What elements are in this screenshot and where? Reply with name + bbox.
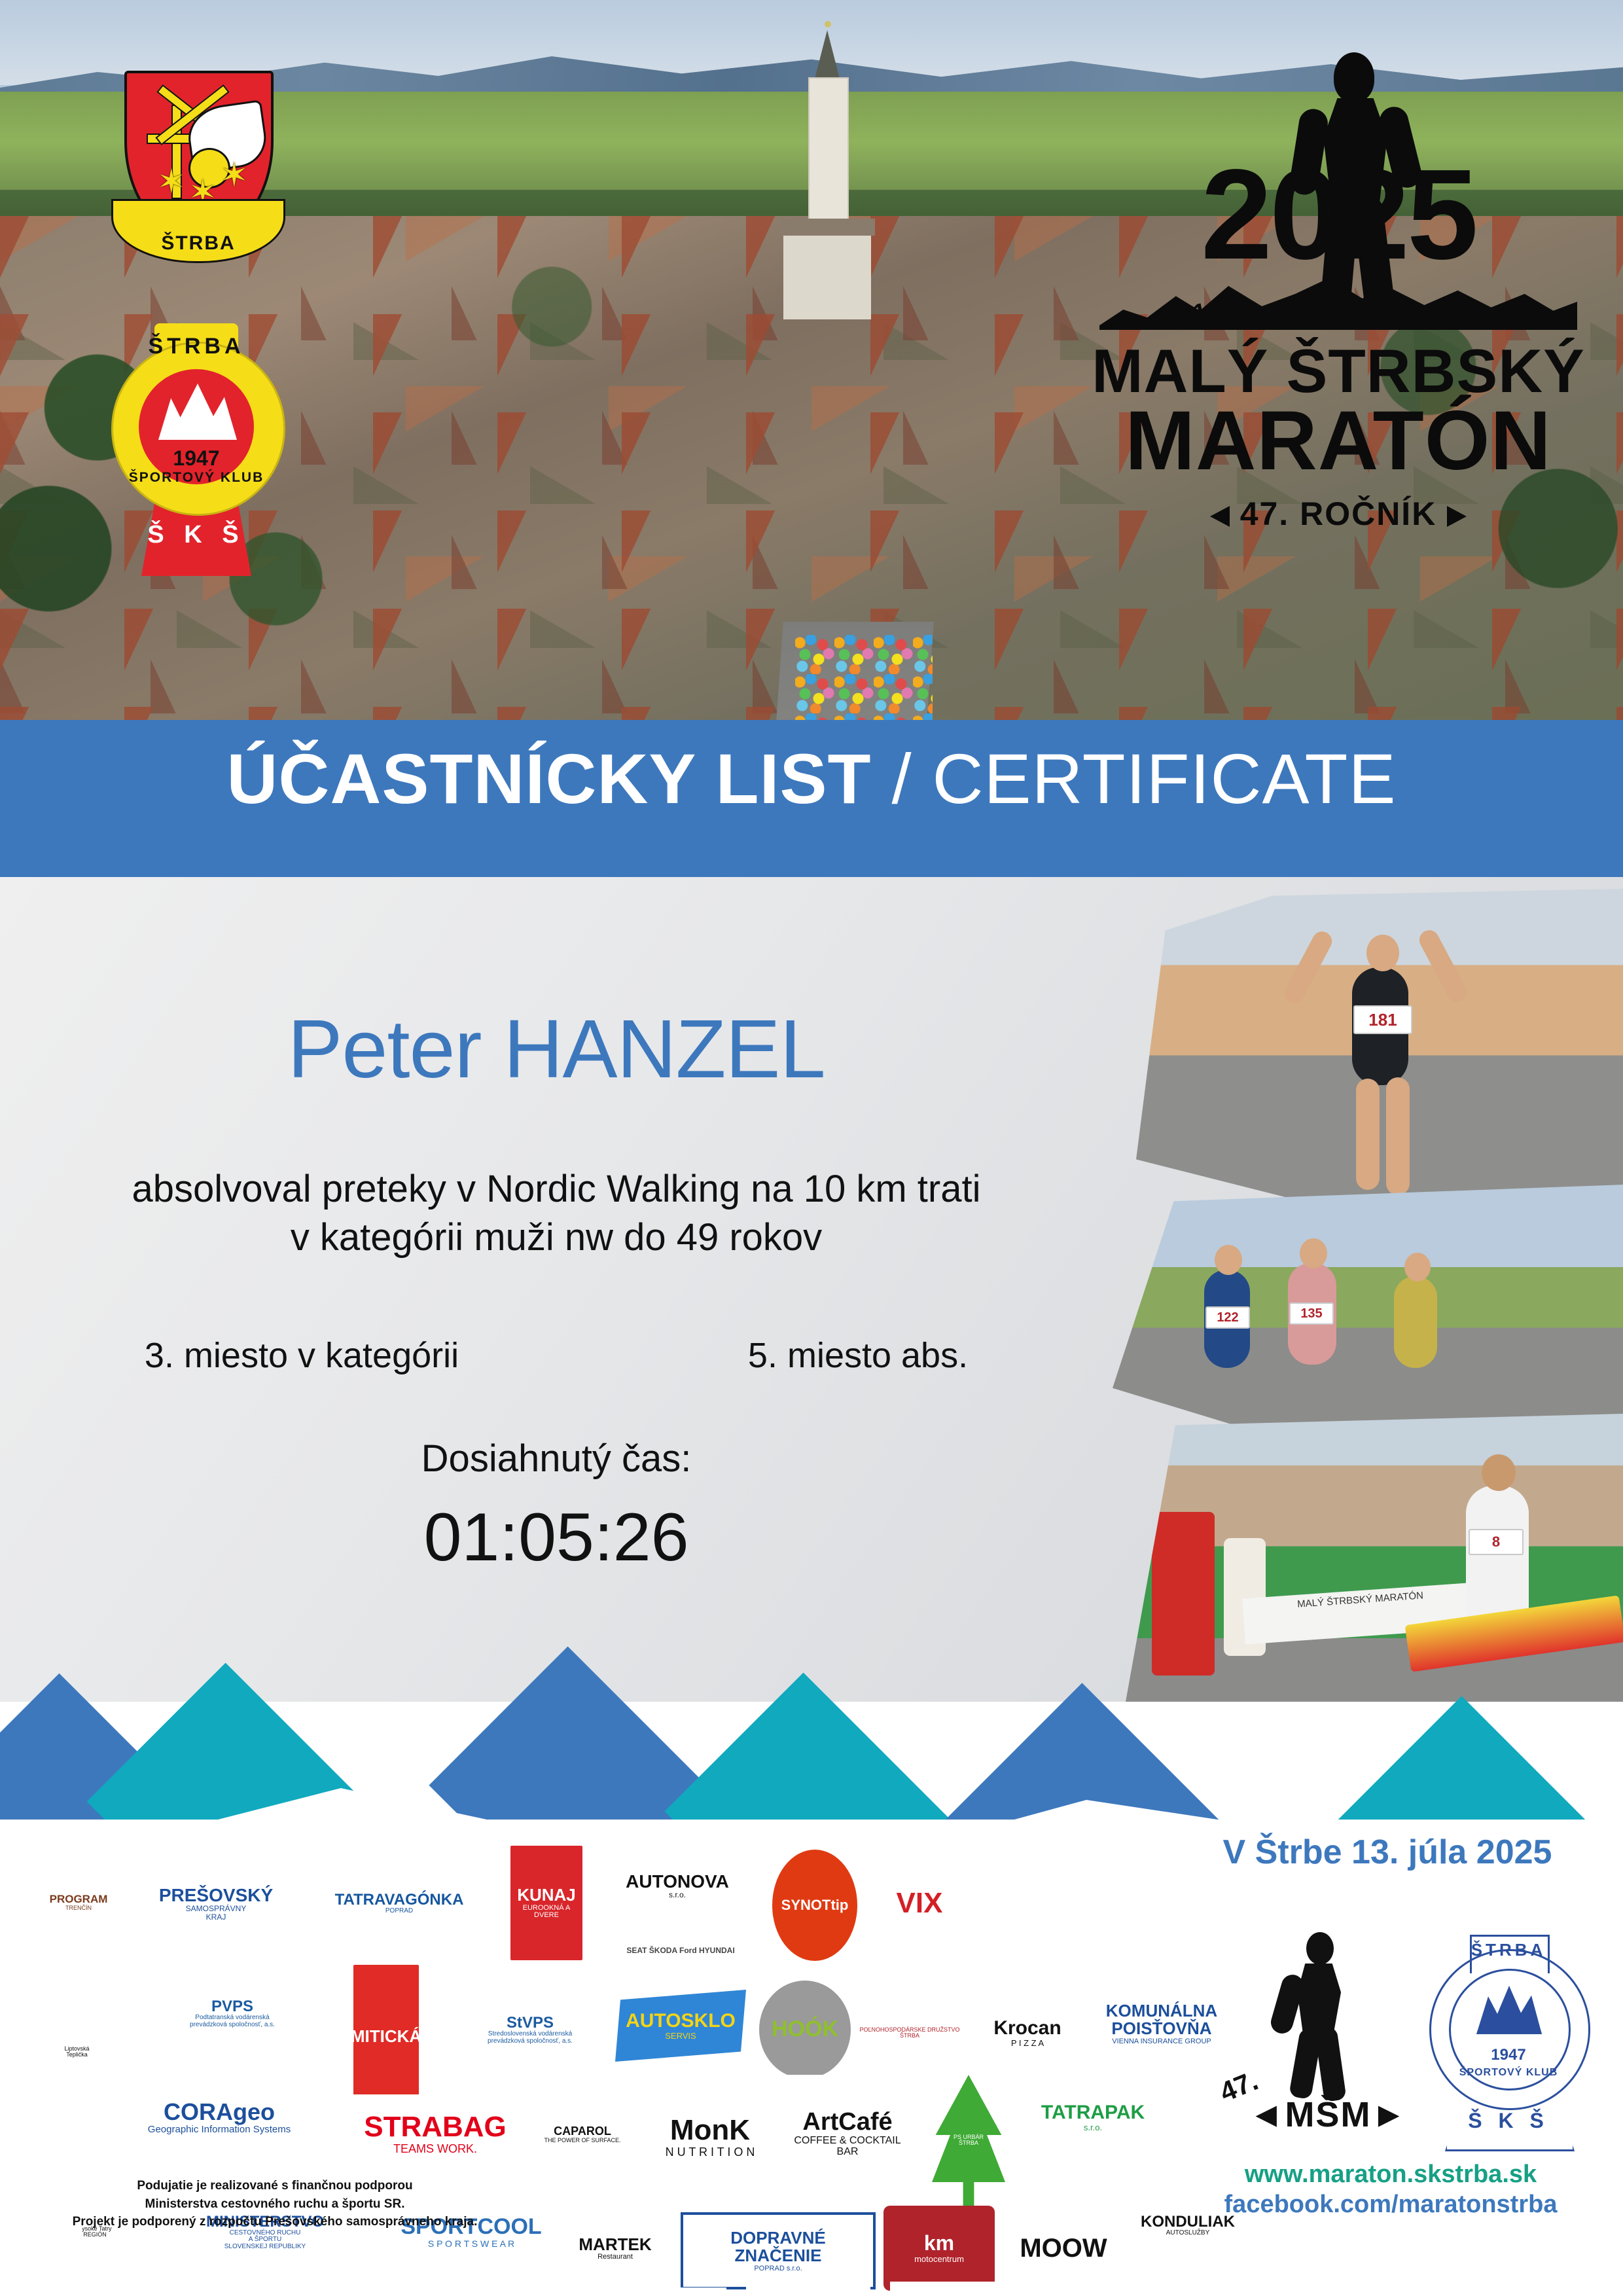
sponsor-name-label: SEAT ŠKODA Ford HYUNDAI [626, 1946, 734, 1955]
sponsor-logo: MARTEKRestaurant [556, 2199, 674, 2296]
placement-row: 3. miesto v kategórii 5. miesto abs. [0, 1335, 1113, 1376]
msm-abbr-label: ◄MŠM► [1249, 2094, 1408, 2135]
sponsor-sub-label: VIENNA INSURANCE GROUP [1106, 2038, 1217, 2046]
sponsor-logo: kmmotocentrum [883, 2206, 995, 2291]
sponsor-name-label: STRABAG [364, 2112, 507, 2142]
achievement-description: absolvoval preteky v Nordic Walking na 1… [0, 1165, 1113, 1262]
msm-runner-leg-b [1314, 2026, 1346, 2102]
description-line-1: absolvoval preteky v Nordic Walking na 1… [0, 1165, 1113, 1213]
sponsor-logo: KOMUNÁLNA POISŤOVŇAVIENNA INSURANCE GROU… [1086, 1978, 1237, 2070]
banner-title-sk: ÚČASTNÍCKY LIST [226, 739, 871, 818]
runner-leg-right [1386, 1077, 1410, 1195]
crest-star-1: ✶ [157, 169, 186, 195]
sponsor-text-wrap: PS URBÁR ŠTRBA [954, 2134, 984, 2147]
sponsor-logo: PotravinyŠERFEL [890, 2282, 1034, 2296]
triangle-right-icon [1447, 506, 1467, 527]
sponsor-sub-label: SERVIS [626, 2032, 736, 2041]
bib-number: 135 [1289, 1302, 1334, 1325]
triangle-left-icon [1210, 506, 1230, 527]
sponsor-sub-label: COFFEE & COCKTAIL BAR [785, 2136, 910, 2158]
church-nave [783, 228, 871, 319]
description-line-2: v kategórii muži nw do 49 rokov [0, 1213, 1113, 1262]
website-link[interactable]: www.maraton.skstrba.sk [1165, 2160, 1616, 2190]
club-top-label: ŠTRBA [98, 334, 294, 359]
sponsor-name-label: AUTOSKLO [626, 2011, 736, 2032]
sponsor-logo: pretekaj.sk [406, 2284, 569, 2296]
sponsor-text-wrap: KrocanP I Z Z A [993, 2018, 1061, 2047]
bib-number: 122 [1205, 1306, 1250, 1329]
winner-head [1482, 1454, 1516, 1491]
sks-club-logo: ŠTRBA 1947 ŠPORTOVÝ KLUB Š K Š [98, 327, 294, 589]
sponsor-text-wrap: STRABAGTEAMS WORK. [364, 2112, 507, 2155]
sponsor-sub-label: Liptovská Teplička [64, 2046, 89, 2058]
sponsor-text-wrap: TATRAVAGÓNKAPOPRAD [335, 1892, 464, 1915]
sponsor-logo: MonKN U T R I T I O N [648, 2088, 772, 2186]
sponsor-name-label: MOOW [1020, 2234, 1107, 2262]
sponsor-text-wrap: MonKN U T R I T I O N [666, 2115, 755, 2158]
sponsor-logo: SYNOTtip [772, 1850, 857, 1961]
sponsor-name-label: AUTONOVA [626, 1872, 729, 1891]
sponsor-sub-label: motocentrum [914, 2255, 964, 2264]
sponsor-logo: CORAgeoGeographic Information Systems [118, 2075, 321, 2160]
recipient-first-name: Peter [287, 1003, 503, 1095]
sponsor-logo: AUTOSKLOSERVIS [615, 1990, 746, 2062]
sponsor-text-wrap: CORAgeoGeographic Information Systems [148, 2100, 291, 2135]
stamp-abbr-label: Š K Š [1414, 2109, 1603, 2133]
runner-head [1366, 935, 1399, 971]
sponsor-name-label: TATRAVAGÓNKA [335, 1892, 464, 1908]
time-label: Dosiahnutý čas: [0, 1437, 1113, 1480]
issue-date: V Štrbe 13. júla 2025 [1171, 1833, 1603, 1872]
sponsor-sub-label: SAMOSPRÁVNY KRAJ [159, 1905, 273, 1921]
sponsor-logo: HOÓK [759, 1981, 851, 2079]
certificate-banner: ÚČASTNÍCKY LIST / CERTIFICATE [0, 720, 1623, 877]
runner-3-body [1394, 1276, 1437, 1368]
marathon-line1: MALÝ ŠTRBSKÝ [1080, 340, 1597, 402]
sponsor-name-label: PREŠOVSKÝ [159, 1886, 273, 1905]
sponsor-logo: STRABAGTEAMS WORK. [353, 2094, 517, 2173]
sponsor-text-wrap: kmmotocentrum [914, 2233, 964, 2263]
sponsor-logo: SEAT ŠKODA Ford HYUNDAI [609, 1931, 753, 1970]
sponsor-sub-label: s.r.o. [626, 1891, 729, 1899]
sponsor-sub-label: TRENČÍN [50, 1905, 108, 1911]
spire-ball [825, 21, 831, 27]
sponsor-logo: MITICKÁ [353, 1965, 419, 2109]
sponsor-logo: DOPRAVNÉ ZNAČENIEPOPRAD s.r.o. [681, 2212, 876, 2289]
disclaimer-line-3: Projekt je podporený z rozpočtu Prešovsk… [46, 2213, 504, 2231]
sponsor-name-label: DOPRAVNÉ ZNAČENIE [730, 2229, 825, 2265]
sponsor-name-label: KOMUNÁLNA POISŤOVŇA [1106, 2002, 1217, 2038]
absolute-placement: 5. miesto abs. [748, 1335, 968, 1376]
crest-name-label: ŠTRBA [113, 232, 283, 255]
sponsor-text-wrap: SEAT ŠKODA Ford HYUNDAI [626, 1946, 734, 1955]
sponsor-sub-label: POPRAD s.r.o. [730, 2265, 825, 2273]
sponsor-name-label: PROGRAM [50, 1893, 108, 1905]
disclaimer-line-1: Podujatie je realizované s finančnou pod… [46, 2177, 504, 2195]
funding-disclaimer: Podujatie je realizované s finančnou pod… [46, 2177, 504, 2231]
sponsor-sub-label: P I Z Z A [993, 2039, 1061, 2048]
sponsor-text-wrap: DOPRAVNÉ ZNAČENIEPOPRAD s.r.o. [730, 2229, 825, 2272]
sponsor-sub-label: POPRAD [335, 1908, 464, 1915]
runner-arm-raised-right [1416, 927, 1471, 1005]
recipient-name: Peter HANZEL [0, 1001, 1113, 1096]
sponsor-sub-label: Restaurant [579, 2253, 651, 2261]
banner-title-separator: / [871, 739, 932, 818]
recipient-last-name: HANZEL [504, 1003, 825, 1095]
sponsor-logo: TATRAVAGÓNKAPOPRAD [314, 1864, 484, 1943]
club-ring-label: ŠPORTOVÝ KLUB [98, 470, 294, 486]
stamp-top-label: ŠTRBA [1414, 1940, 1603, 1960]
sponsor-name-label: ArtCafé [785, 2109, 910, 2136]
sponsor-sub-label: s.r.o. [1041, 2123, 1145, 2132]
msm-runner-icon [1276, 1931, 1361, 2094]
sponsor-logo: Liptovská Teplička [39, 1970, 115, 2134]
sponsor-name-label: TATRAPAK [1041, 2102, 1145, 2123]
sponsor-logo: PS URBÁR ŠTRBA [923, 2075, 1014, 2206]
sponsor-sub-label: Stredoslovenská vodárenská prevádzková s… [488, 2031, 573, 2045]
edition-label: 47. ROČNÍK [1240, 495, 1437, 532]
sponsor-name-label: MARTEK [579, 2236, 651, 2253]
sponsor-logo: PROGRAMTRENČÍN [39, 1854, 118, 1952]
sponsor-sub-label: AUTOSLUŽBY [1141, 2230, 1235, 2237]
sponsor-text-wrap: AUTOSKLOSERVIS [626, 2011, 736, 2040]
sponsor-sub-label: TEAMS WORK. [364, 2143, 507, 2155]
banner-title: ÚČASTNÍCKY LIST / CERTIFICATE [0, 744, 1623, 814]
sponsor-text-wrap: VIX [897, 1888, 943, 1918]
sponsor-name-label: CORAgeo [148, 2100, 291, 2125]
sponsor-text-wrap: TATRAPAKs.r.o. [1041, 2102, 1145, 2132]
sponsor-name-label: CAPAROL [544, 2125, 620, 2138]
distance-10km-label: 10 km [1366, 295, 1444, 336]
sponsor-name-label: km [914, 2233, 964, 2255]
sponsor-text-wrap: CAPAROLTHE POWER OF SURFACE. [544, 2125, 620, 2144]
runner-2-head [1300, 1238, 1327, 1268]
sponsor-name-label: Krocan [993, 2018, 1061, 2039]
sponsor-logo: PVPSPodtatranská vodárenská prevádzková … [124, 1974, 340, 2053]
sponsor-text-wrap: PVPSPodtatranská vodárenská prevádzková … [190, 1998, 275, 2028]
bib-number: 181 [1353, 1005, 1412, 1034]
sponsor-text-wrap: StVPSStredoslovenská vodárenská prevádzk… [488, 2015, 573, 2045]
sponsor-name-label: SYNOTtip [781, 1897, 849, 1912]
runner-1-head [1215, 1245, 1242, 1275]
runner-3-head [1404, 1253, 1431, 1282]
sponsor-logo: POĽNOHOSPODÁRSKE DRUŽSTVO ŠTRBA [857, 1974, 962, 2092]
sponsor-name-label: KUNAJ [510, 1886, 582, 1904]
sponsor-text-wrap: HOÓK [772, 2018, 838, 2041]
sponsor-logo: AUTONOVAs.r.o. [602, 1850, 753, 1922]
sponsor-text-wrap: MARTEKRestaurant [579, 2236, 651, 2261]
sponsor-logo: CAPAROLTHE POWER OF SURFACE. [537, 2079, 628, 2190]
sponsor-logo: ArtCaféCOFFEE & COCKTAIL BAR [785, 2075, 910, 2193]
finish-time-value: 01:05:26 [0, 1499, 1113, 1577]
runner-head [1334, 52, 1374, 102]
sponsor-name-label: VIX [897, 1888, 943, 1918]
msm-runner-head [1306, 1932, 1334, 1965]
sponsor-logo: StVPSStredoslovenská vodárenská prevádzk… [438, 1974, 622, 2085]
sponsor-sub-label: N U T R I T I O N [666, 2146, 755, 2159]
runner-pack [795, 635, 933, 720]
church-building [789, 31, 867, 339]
facebook-link[interactable]: facebook.com/maratonstrba [1165, 2190, 1616, 2220]
sponsor-sub-label: Geographic Information Systems [148, 2125, 291, 2135]
sponsor-sub-label: Podtatranská vodárenská prevádzková spol… [190, 2015, 275, 2028]
category-placement: 3. miesto v kategórii [145, 1335, 459, 1376]
crest-ribbon: ŠTRBA [111, 199, 285, 263]
sponsor-text-wrap: KUNAJEUROOKNÁ A DVERE [510, 1886, 582, 1919]
msm-logo: 47. ◄MŠM► [1217, 1931, 1414, 2147]
disclaimer-line-2: Ministerstva cestovného ruchu a športu S… [46, 2195, 504, 2214]
church-spire [813, 30, 841, 84]
sponsor-sub-label: S P O R T S W E A R [401, 2239, 541, 2249]
runner-leg-left [1356, 1079, 1380, 1190]
sponsor-logo: VIX [877, 1843, 962, 1964]
sponsor-text-wrap: MOOW [1020, 2234, 1107, 2262]
sponsor-sub-label: CESTOVNÉHO RUCHU A ŠPORTU SLOVENSKEJ REP… [206, 2230, 324, 2251]
photo-finisher-celebrating: 181 [1136, 889, 1623, 1236]
certificate-page: ŠTART ✶ ✶ ✶ ŠTRBA ŠTRBA 1947 Š [0, 0, 1623, 2296]
marathon-title-block: 2025 31 km 10 km MALÝ ŠTRBSKÝ MARATÓN 47… [1080, 46, 1597, 589]
sponsor-text-wrap: KOMUNÁLNA POISŤOVŇAVIENNA INSURANCE GROU… [1106, 2002, 1217, 2045]
photo-finish-line: MALÝ ŠTRBSKÝ MARATÓN 8 [1126, 1414, 1623, 1702]
sponsor-text-wrap: PROGRAMTRENČÍN [50, 1893, 108, 1911]
sponsor-name-label: HOÓK [772, 2018, 838, 2041]
sponsor-text-wrap: PREŠOVSKÝSAMOSPRÁVNY KRAJ [159, 1886, 273, 1922]
sponsor-text-wrap: MITICKÁ [353, 2028, 419, 2045]
sponsor-logo: MOOW [1008, 2209, 1119, 2287]
red-inflatable-arch [1152, 1512, 1215, 1676]
club-abbr-label: Š K Š [98, 521, 294, 549]
club-year-label: 1947 [98, 446, 294, 471]
sponsor-logo: LUJANPlus s.r.o. [746, 2282, 870, 2296]
contact-links: www.maraton.skstrba.sk facebook.com/mara… [1165, 2160, 1616, 2219]
sponsor-logo: PREŠOVSKÝSAMOSPRÁVNY KRAJ [131, 1864, 301, 1943]
sponsor-text-wrap: ArtCaféCOFFEE & COCKTAIL BAR [785, 2109, 910, 2157]
sponsor-sub-label: THE POWER OF SURFACE. [544, 2138, 620, 2144]
stamp-ring-label: ŠPORTOVÝ KLUB [1414, 2067, 1603, 2079]
sponsor-logo: behskWeb, ktorý vás rozhýbe [589, 2287, 726, 2296]
sponsor-text-wrap: POĽNOHOSPODÁRSKE DRUŽSTVO ŠTRBA [859, 2027, 959, 2039]
club-stamp: ŠTRBA 1947 ŠPORTOVÝ KLUB Š K Š [1414, 1931, 1603, 2153]
sponsor-sub-label: EUROOKNÁ A DVERE [510, 1905, 582, 1920]
sponsor-logo: KUNAJEUROOKNÁ A DVERE [510, 1846, 582, 1960]
strba-coat-of-arms: ✶ ✶ ✶ ŠTRBA [111, 71, 281, 267]
church-nave-roof [779, 219, 875, 236]
sponsor-text-wrap: SYNOTtip [781, 1897, 849, 1912]
sponsor-logo: KrocanP I Z Z A [969, 1974, 1086, 2092]
sponsor-name-label: MonK [666, 2115, 755, 2145]
photo-collage: 181 122 135 MALÝ ŠTRBSKÝ MARATÓN 8 [1113, 877, 1623, 1708]
sponsor-name-label: MITICKÁ [353, 2028, 419, 2045]
sponsor-name-label: StVPS [488, 2015, 573, 2031]
banner-title-en: CERTIFICATE [933, 739, 1397, 818]
sponsor-logo-grid: PROGRAMTRENČÍNPREŠOVSKÝSAMOSPRÁVNY KRAJT… [39, 1826, 1165, 2232]
sponsor-sub-label: POĽNOHOSPODÁRSKE DRUŽSTVO ŠTRBA [859, 2027, 959, 2039]
sponsor-logo: TATRAPAKs.r.o. [1027, 2081, 1158, 2153]
crest-star-3: ✶ [220, 162, 249, 188]
runner-arm-raised-left [1281, 928, 1336, 1007]
event-year: 2025 [1080, 151, 1597, 279]
bib-number: 8 [1469, 1529, 1524, 1555]
stamp-year-label: 1947 [1414, 2046, 1603, 2064]
sponsor-sub-label: PS URBÁR ŠTRBA [954, 2134, 984, 2147]
marathon-line2: MARATÓN [1080, 399, 1597, 483]
sponsor-name-label: PVPS [190, 1998, 275, 2015]
msm-runner-torso [1294, 1964, 1343, 2036]
sponsor-text-wrap: Liptovská Teplička [64, 2046, 89, 2058]
marathon-edition: 47. ROČNÍK [1080, 495, 1597, 533]
sponsor-text-wrap: AUTONOVAs.r.o. [626, 1872, 729, 1899]
